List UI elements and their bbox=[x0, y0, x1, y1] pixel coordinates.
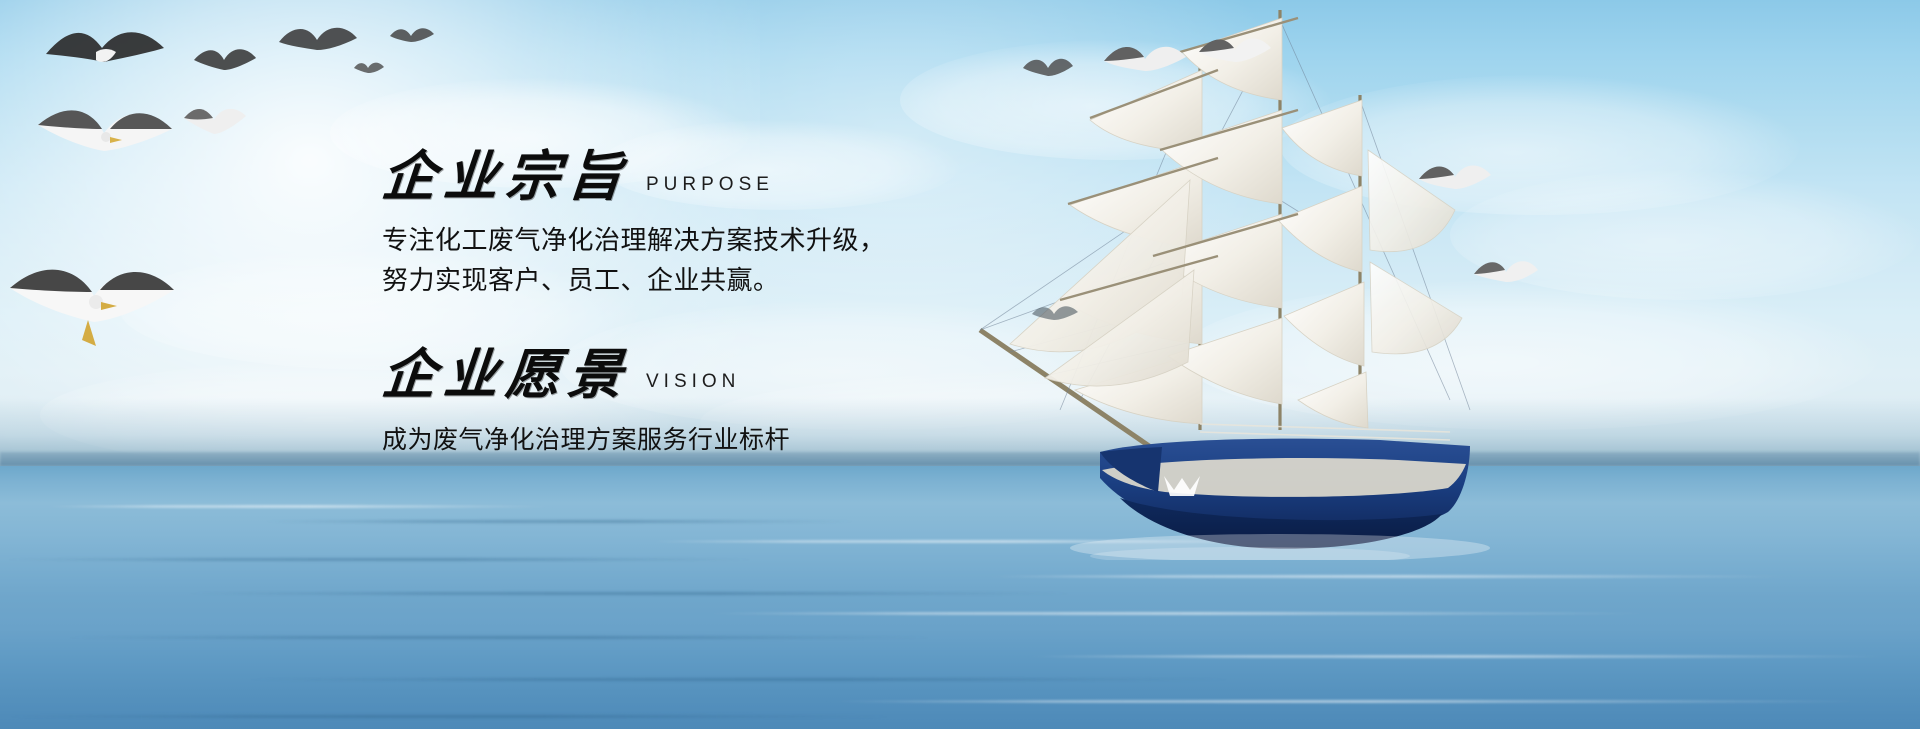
wave-line bbox=[40, 505, 560, 508]
seagull-icon bbox=[1100, 35, 1190, 89]
seagull-icon bbox=[275, 18, 361, 64]
seagull-icon bbox=[1020, 52, 1076, 86]
seagull-icon bbox=[1195, 28, 1275, 78]
seagull-icon bbox=[30, 95, 180, 185]
wave-line bbox=[60, 636, 940, 639]
corporate-banner: 企业宗旨 PURPOSE 专注化工废气净化治理解决方案技术升级， 努力实现客户、… bbox=[0, 0, 1920, 729]
wave-line bbox=[240, 678, 1240, 681]
wave-line bbox=[0, 558, 760, 561]
seagull-icon bbox=[1030, 300, 1080, 330]
wave-line bbox=[700, 612, 1660, 615]
purpose-block: 企业宗旨 PURPOSE 专注化工废气净化治理解决方案技术升级， 努力实现客户、… bbox=[382, 148, 1002, 300]
text-content: 企业宗旨 PURPOSE 专注化工废气净化治理解决方案技术升级， 努力实现客户、… bbox=[382, 148, 1002, 459]
purpose-line-2: 努力实现客户、员工、企业共赢。 bbox=[382, 261, 1002, 299]
wave-line bbox=[980, 575, 1800, 578]
purpose-heading-cn: 企业宗旨 bbox=[380, 148, 633, 205]
purpose-heading-row: 企业宗旨 PURPOSE bbox=[382, 148, 1002, 205]
seagull-icon bbox=[40, 18, 170, 98]
seagull-icon bbox=[180, 100, 250, 152]
vision-heading-en: VISION bbox=[646, 371, 740, 402]
vision-line-1: 成为废气净化治理方案服务行业标杆 bbox=[382, 422, 1002, 459]
wave-line bbox=[1020, 655, 1900, 658]
wave-line bbox=[180, 592, 1080, 595]
vision-heading-row: 企业愿景 VISION bbox=[382, 346, 1002, 403]
purpose-heading-en: PURPOSE bbox=[646, 174, 774, 205]
seagull-icon bbox=[352, 58, 386, 80]
seagull-icon bbox=[388, 22, 436, 52]
seagull-icon bbox=[1470, 252, 1542, 296]
vision-block: 企业愿景 VISION 成为废气净化治理方案服务行业标杆 bbox=[382, 346, 1002, 460]
seagull-icon bbox=[0, 250, 180, 360]
deck-rail bbox=[1200, 424, 1450, 440]
vision-heading-cn: 企业愿景 bbox=[380, 346, 633, 403]
hull bbox=[1100, 439, 1470, 549]
seagull-icon bbox=[1415, 155, 1495, 205]
purpose-line-1: 专注化工废气净化治理解决方案技术升级， bbox=[382, 221, 1002, 259]
wave-line bbox=[260, 520, 860, 523]
seagull-icon bbox=[190, 40, 260, 90]
sails bbox=[1010, 18, 1462, 428]
wave-line bbox=[820, 700, 1880, 703]
wave-line bbox=[0, 715, 900, 718]
